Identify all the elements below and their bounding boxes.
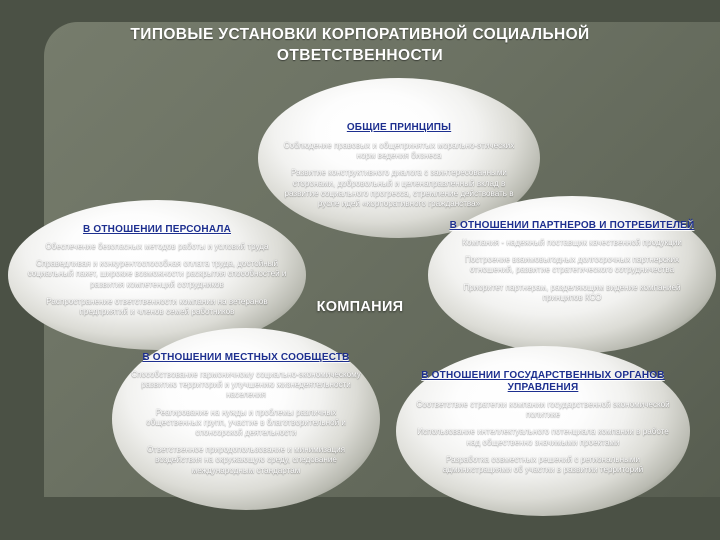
bubble-government-bodies-paragraph-2: Использование интеллектуального потенциа… (412, 427, 674, 447)
bubble-local-communities-heading: В ОТНОШЕНИИ МЕСТНЫХ СООБЩЕСТВ (128, 352, 364, 364)
bubble-government-bodies-content: В ОТНОШЕНИИ ГОСУДАРСТВЕННЫХ ОРГАНОВ УПРА… (396, 346, 690, 516)
bubble-government-bodies-paragraph-1: Соответствие стратегии компании государс… (412, 400, 674, 420)
bubble-government-bodies: В ОТНОШЕНИИ ГОСУДАРСТВЕННЫХ ОРГАНОВ УПРА… (396, 346, 690, 516)
page-title: ТИПОВЫЕ УСТАНОВКИ КОРПОРАТИВНОЙ СОЦИАЛЬН… (60, 24, 660, 66)
bubble-partners-paragraph-2: Построение взаимовыгодных долгосрочных п… (446, 255, 698, 275)
bubble-general-principles-paragraph-1: Соблюдение правовых и общепринятых морал… (276, 141, 522, 161)
bubble-staff-paragraph-3: Распространение ответственности компании… (22, 297, 292, 317)
center-label-company: КОМПАНИЯ (292, 299, 428, 315)
bubble-partners-heading: В ОТНОШЕНИИ ПАРТНЕРОВ И ПОТРЕБИТЕЛЕЙ (446, 220, 698, 232)
bubble-local-communities: В ОТНОШЕНИИ МЕСТНЫХ СООБЩЕСТВ Способство… (112, 328, 380, 510)
bubble-local-communities-paragraph-2: Реагирование на нужды и проблемы различн… (128, 408, 364, 439)
bubble-partners-paragraph-3: Приоритет партнерам, разделяющим видение… (446, 283, 698, 303)
bubble-local-communities-content: В ОТНОШЕНИИ МЕСТНЫХ СООБЩЕСТВ Способство… (112, 328, 380, 510)
bubble-local-communities-paragraph-3: Ответственное природопользование и миним… (128, 445, 364, 476)
bubble-staff-heading: В ОТНОШЕНИИ ПЕРСОНАЛА (22, 224, 292, 236)
bubble-government-bodies-heading: В ОТНОШЕНИИ ГОСУДАРСТВЕННЫХ ОРГАНОВ УПРА… (412, 370, 674, 394)
bubble-local-communities-paragraph-1: Способствование гармоничному социально-э… (128, 370, 364, 401)
bubble-partners-paragraph-1: Компания - надежный поставщик качественн… (446, 238, 698, 248)
bubble-partners-content: В ОТНОШЕНИИ ПАРТНЕРОВ И ПОТРЕБИТЕЛЕЙ Ком… (428, 196, 716, 354)
bubble-government-bodies-paragraph-3: Разработка совместных решений с регионал… (412, 455, 674, 475)
bubble-staff-paragraph-2: Справедливая и конкурентоспособная оплат… (22, 259, 292, 290)
bubble-partners: В ОТНОШЕНИИ ПАРТНЕРОВ И ПОТРЕБИТЕЛЕЙ Ком… (428, 196, 716, 354)
bubble-general-principles-heading: ОБЩИЕ ПРИНЦИПЫ (276, 122, 522, 134)
slide-canvas: ТИПОВЫЕ УСТАНОВКИ КОРПОРАТИВНОЙ СОЦИАЛЬН… (0, 0, 720, 540)
bubble-staff-paragraph-1: Обеспечение безопасных методов работы и … (22, 242, 292, 252)
